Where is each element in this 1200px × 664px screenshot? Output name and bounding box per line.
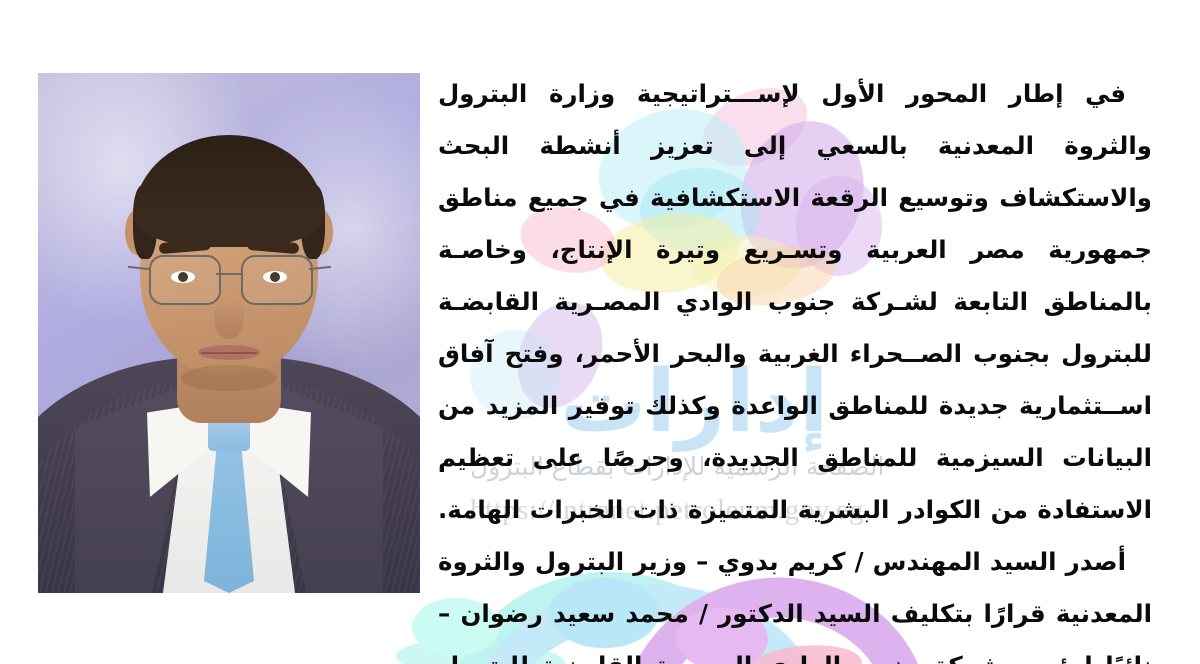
photo-nose bbox=[214, 297, 244, 339]
article-paragraph-1: في إطار المحور الأول لإســـتراتيجية وزار… bbox=[438, 68, 1152, 536]
photo-chin-shadow bbox=[181, 365, 277, 391]
article-body: في إطار المحور الأول لإســـتراتيجية وزار… bbox=[438, 68, 1152, 664]
page-canvas: إدارات الصفحة الرسمية للإدارات بقطاع الب… bbox=[0, 0, 1200, 664]
glasses-lens-right bbox=[241, 255, 313, 305]
portrait-photo bbox=[38, 73, 420, 593]
glasses-lens-left bbox=[149, 255, 221, 305]
glasses-bridge bbox=[216, 273, 242, 275]
photo-mouth-line bbox=[201, 352, 257, 354]
article-paragraph-2: أصدر السيد المهندس / كريم بدوي – وزير ال… bbox=[438, 536, 1152, 664]
